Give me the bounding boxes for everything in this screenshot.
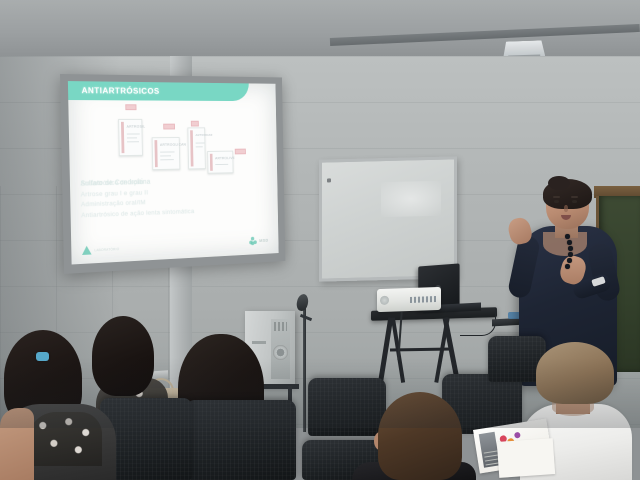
lower-wall-shadow <box>0 358 640 428</box>
slide-title: ANTIARTRÓSICOS <box>81 85 159 96</box>
product-tag <box>191 121 199 127</box>
presenter-eyebrow <box>571 196 578 198</box>
projection-screen: ANTIARTRÓSICOS ARTROSIL ARTROGLICAN <box>60 74 285 274</box>
pc-tower-drive-slot <box>252 341 266 344</box>
product-box-line <box>127 137 137 138</box>
product-box-spine <box>190 130 193 166</box>
whiteboard <box>319 156 457 281</box>
projector[interactable] <box>377 287 441 312</box>
product-box: ARTROGLICAN <box>152 137 181 170</box>
product-box-label: ARTROSIL <box>127 125 146 129</box>
product-box-line <box>196 143 205 144</box>
power-cable <box>460 308 496 336</box>
classroom-photo: ANTIARTRÓSICOS ARTROSIL ARTROGLICAN <box>0 0 640 480</box>
slide-body-line: Sulfato de Condroitina <box>81 179 151 188</box>
slide-logo-left: LABORATÓRIO <box>82 244 120 255</box>
flower-logo-icon <box>249 237 257 246</box>
presenter-hair-bun <box>548 176 570 190</box>
product-box-line <box>127 141 139 142</box>
product-box-spine <box>121 122 124 153</box>
printed-handout-second-sheet[interactable] <box>497 438 555 478</box>
product-box-label: ARTROLIVE <box>215 156 235 160</box>
product-box-line <box>196 146 203 147</box>
product-box-spine <box>210 154 213 171</box>
presenter-eye <box>572 200 577 203</box>
presenter-eye <box>554 200 559 203</box>
whiteboard-glare <box>381 181 440 217</box>
product-box-line <box>215 164 228 165</box>
product-box-line <box>160 155 171 156</box>
slide-logo-right-label: MSD <box>259 238 268 243</box>
whiteboard-clip <box>327 178 331 182</box>
presentation-slide: ANTIARTRÓSICOS ARTROSIL ARTROGLICAN <box>68 81 279 264</box>
product-box-label: ARTRODAR <box>195 133 212 137</box>
product-box-spine <box>154 140 157 167</box>
product-box-line <box>127 133 140 134</box>
slide-logo-left-label: LABORATÓRIO <box>94 247 119 252</box>
product-box: ARTRODAR <box>187 127 205 169</box>
product-tag <box>235 149 246 155</box>
presenter-eyebrow <box>553 196 560 198</box>
triangle-logo-icon <box>82 246 92 255</box>
projector-lens-icon <box>380 296 389 305</box>
projector-vent <box>410 296 436 303</box>
handout-dot <box>514 432 521 439</box>
product-box: ARTROSIL <box>118 119 143 156</box>
product-tag <box>163 124 175 130</box>
product-box-line <box>160 151 174 152</box>
presenter-nose <box>564 205 568 212</box>
presenter-necklace <box>560 234 576 270</box>
slide-body-text: Sulfato de Condroitina Antiartrósico de … <box>81 176 261 222</box>
slide-body-line: Antiartrósico de ação lenta sintomática <box>81 206 260 219</box>
product-tag <box>125 104 136 110</box>
pc-tower-ports <box>274 322 287 331</box>
product-box-label: ARTROGLICAN <box>160 143 186 147</box>
product-box: ARTROLIVE <box>207 151 233 174</box>
slide-logo-right: MSD <box>249 236 268 245</box>
product-box-line <box>160 159 174 160</box>
